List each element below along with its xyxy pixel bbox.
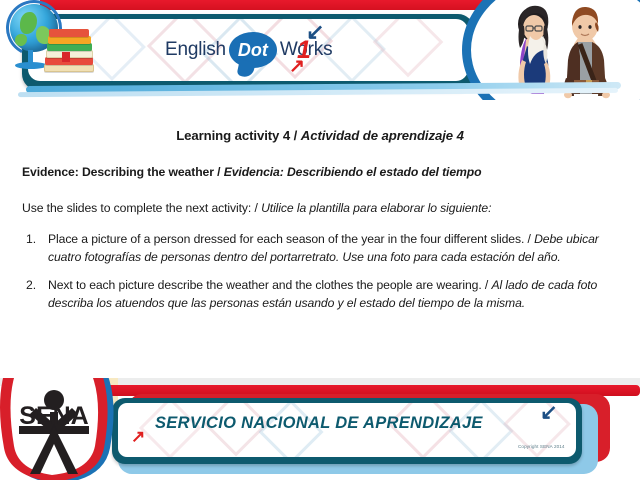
page-footer: SERVICIO NACIONAL DE APRENDIZAJE Copyrig… [0, 378, 640, 480]
arrow-up-right-icon: ↗ [289, 58, 307, 76]
list-item: Next to each picture describe the weathe… [22, 277, 618, 312]
document-content: Learning activity 4 / Actividad de apren… [0, 100, 640, 378]
evidence-line: Evidence: Describing the weather / Evide… [22, 165, 640, 179]
brand-word-english: English [165, 39, 226, 61]
instruction-es: Utilice la plantilla para elaborar lo si… [261, 201, 491, 215]
page-title: Learning activity 4 / Actividad de apren… [0, 128, 640, 143]
speech-bubble-icon: Dot [229, 32, 277, 68]
evidence-en: Evidence: Describing the weather / [22, 165, 224, 179]
page-title-es: Actividad de aprendizaje 4 [301, 128, 464, 143]
evidence-es: Evidencia: Describiendo el estado del ti… [224, 165, 482, 179]
step-text-en: Next to each picture describe the weathe… [48, 278, 492, 292]
step-text-en: Place a picture of a person dressed for … [48, 232, 534, 246]
books-stack-icon [44, 26, 94, 74]
copyright-text: Copyright SENA 2014 [518, 444, 565, 449]
instruction-line: Use the slides to complete the next acti… [22, 201, 640, 215]
page-title-en: Learning activity 4 / [176, 128, 301, 143]
arrow-down-left-icon: ↙ [306, 22, 326, 42]
steps-list: Place a picture of a person dressed for … [22, 231, 618, 312]
instruction-en: Use the slides to complete the next acti… [22, 201, 261, 215]
sena-wordmark: SENA [19, 402, 88, 430]
globe-base [15, 62, 47, 69]
sena-logo: SENA [0, 378, 154, 480]
list-item: Place a picture of a person dressed for … [22, 231, 618, 266]
brand-word-dot: Dot [238, 40, 268, 61]
footer-title: SERVICIO NACIONAL DE APRENDIZAJE [155, 414, 483, 433]
arrow-down-left-icon: ↙ [540, 402, 558, 423]
page-root: English Dot Works 1 ↙ ↗ [0, 0, 640, 480]
page-header: English Dot Works 1 ↙ ↗ [0, 0, 640, 100]
diamond-pattern-icon [373, 19, 444, 77]
